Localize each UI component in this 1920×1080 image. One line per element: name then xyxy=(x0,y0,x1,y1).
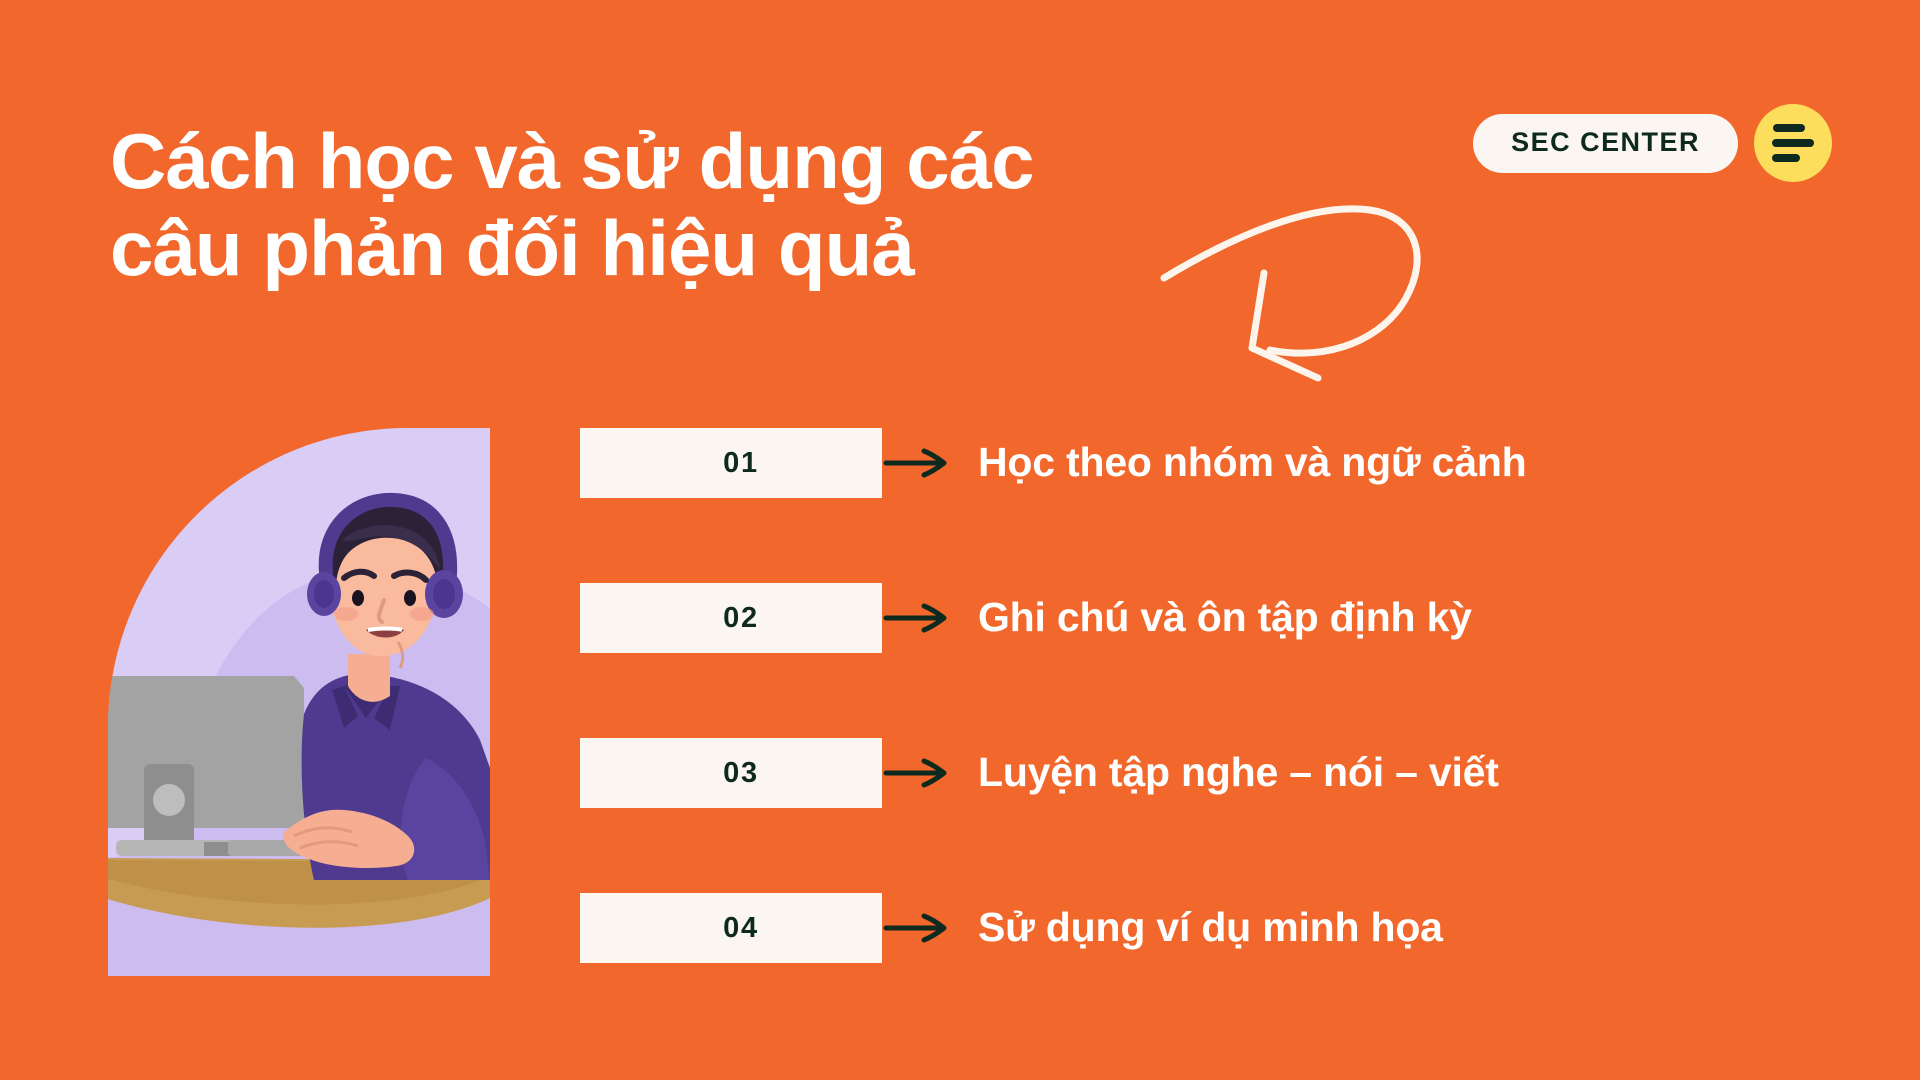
step-row[interactable]: 02 Ghi chú và ôn tập định kỳ xyxy=(580,583,1800,653)
slide-canvas: SEC CENTER Cách học và sử dụng các câu p… xyxy=(0,0,1920,1080)
step-label: Sử dụng ví dụ minh họa xyxy=(978,903,1443,952)
step-number: 03 xyxy=(723,759,759,788)
brand-pill[interactable]: SEC CENTER xyxy=(1473,114,1738,173)
arrow-right-icon xyxy=(882,753,954,793)
steps-list: 01 Học theo nhóm và ngữ cảnh 02 Ghi chú xyxy=(580,428,1800,963)
step-number: 01 xyxy=(723,449,759,478)
hamburger-bar-2 xyxy=(1772,139,1814,147)
step-number-box: 01 xyxy=(580,428,882,498)
brand-bar: SEC CENTER xyxy=(1473,104,1832,182)
step-row[interactable]: 01 Học theo nhóm và ngữ cảnh xyxy=(580,428,1800,498)
step-number: 02 xyxy=(723,604,759,633)
step-number-box: 04 xyxy=(580,893,882,963)
hamburger-bar-1 xyxy=(1773,124,1805,132)
step-row[interactable]: 03 Luyện tập nghe – nói – viết xyxy=(580,738,1800,808)
step-row[interactable]: 04 Sử dụng ví dụ minh họa xyxy=(580,893,1800,963)
curved-arrow-icon xyxy=(1160,180,1460,400)
step-label: Luyện tập nghe – nói – viết xyxy=(978,748,1499,797)
illustration-person-at-computer xyxy=(108,428,490,976)
step-number-box: 03 xyxy=(580,738,882,808)
step-number: 04 xyxy=(723,914,759,943)
hamburger-bar-3 xyxy=(1772,154,1800,162)
page-title-line-2: câu phản đối hiệu quả xyxy=(110,205,1034,292)
arrow-right-icon xyxy=(882,908,954,948)
step-number-box: 02 xyxy=(580,583,882,653)
hamburger-icon[interactable] xyxy=(1754,104,1832,182)
step-label: Ghi chú và ôn tập định kỳ xyxy=(978,593,1472,642)
page-title-line-1: Cách học và sử dụng các xyxy=(110,118,1034,205)
arrow-right-icon xyxy=(882,598,954,638)
step-label: Học theo nhóm và ngữ cảnh xyxy=(978,438,1527,487)
page-title: Cách học và sử dụng các câu phản đối hiệ… xyxy=(110,118,1034,293)
arrow-right-icon xyxy=(882,443,954,483)
